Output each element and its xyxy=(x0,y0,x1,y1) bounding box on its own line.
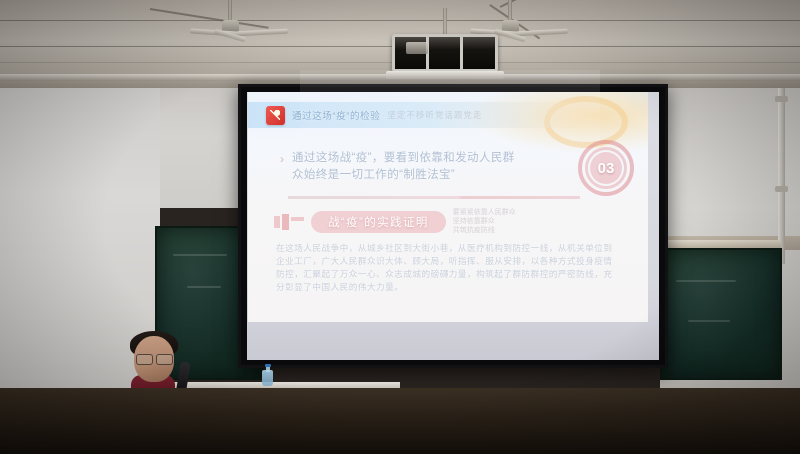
projector-mount xyxy=(443,8,447,36)
slide-bullet-line-1: 通过这场战“疫”，要看到依靠和发动人民群 xyxy=(292,152,515,164)
party-emblem-icon xyxy=(266,106,285,125)
chalk-mark xyxy=(688,320,730,322)
fan-rod xyxy=(228,0,232,22)
bottle-cap xyxy=(265,364,271,367)
slide-bullet-text: 通过这场战“疫”，要看到依靠和发动人民群 众始终是一切工作的“制胜法宝” xyxy=(292,150,515,184)
foreground-shadow xyxy=(0,388,800,454)
slide-body-paragraph: 在这场人民战争中，从城乡社区到大街小巷，从医疗机构到防控一线，从机关单位到企业工… xyxy=(276,242,620,294)
slide-bullet-line-2: 众始终是一切工作的“制胜法宝” xyxy=(292,169,455,181)
chalk-mark xyxy=(676,280,736,282)
slide-number-badge: 03 xyxy=(578,140,634,196)
ceiling-projector xyxy=(392,34,498,72)
glasses-icon xyxy=(136,354,173,363)
slide-divider xyxy=(288,196,580,199)
chalk-mark xyxy=(173,254,227,256)
ceiling-fan-right xyxy=(508,0,512,40)
slide-bullet: › 通过这场战“疫”，要看到依靠和发动人民群 众始终是一切工作的“制胜法宝” xyxy=(280,150,610,184)
badge-number: 03 xyxy=(590,152,622,184)
pipe-clip xyxy=(775,96,788,102)
slide-header-title: 通过这场“疫”的检验 xyxy=(292,108,380,122)
slide-section-pill: 战“疫”的实践证明 xyxy=(311,211,446,233)
chevron-right-icon: › xyxy=(280,152,284,166)
ceiling-seam xyxy=(0,20,800,21)
fan-rod xyxy=(508,0,512,22)
projector-base-plate xyxy=(386,71,504,79)
bottle-body xyxy=(262,370,273,386)
classroom-screenshot: 通过这场“疫”的检验 坚定不移听党话跟党走 › 通过这场战“疫”，要看到依靠和发… xyxy=(0,0,800,454)
projector-lens-icon xyxy=(406,42,428,54)
flag-icon xyxy=(274,214,304,230)
slide-header: 通过这场“疫”的检验 坚定不移听党话跟党走 xyxy=(248,102,648,128)
blackboard-right xyxy=(660,248,782,380)
presentation-slide: 通过这场“疫”的检验 坚定不移听党话跟党走 › 通过这场战“疫”，要看到依靠和发… xyxy=(248,92,648,322)
ceiling-fan-left xyxy=(228,0,232,40)
projector-cage-bar xyxy=(460,36,463,70)
chalk-mark xyxy=(187,286,221,288)
slide-section-note: 要紧紧依靠人民群众 坚持依靠群众 共筑抗疫防线 xyxy=(453,208,516,235)
slide-header-subtitle: 坚定不移听党话跟党走 xyxy=(387,109,482,121)
slide-section-row: 战“疫”的实践证明 要紧紧依靠人民群众 坚持依靠群众 共筑抗疫防线 xyxy=(274,208,624,235)
pipe-clip xyxy=(775,186,788,192)
water-bottle xyxy=(262,364,273,386)
wall-pipe xyxy=(778,88,785,264)
